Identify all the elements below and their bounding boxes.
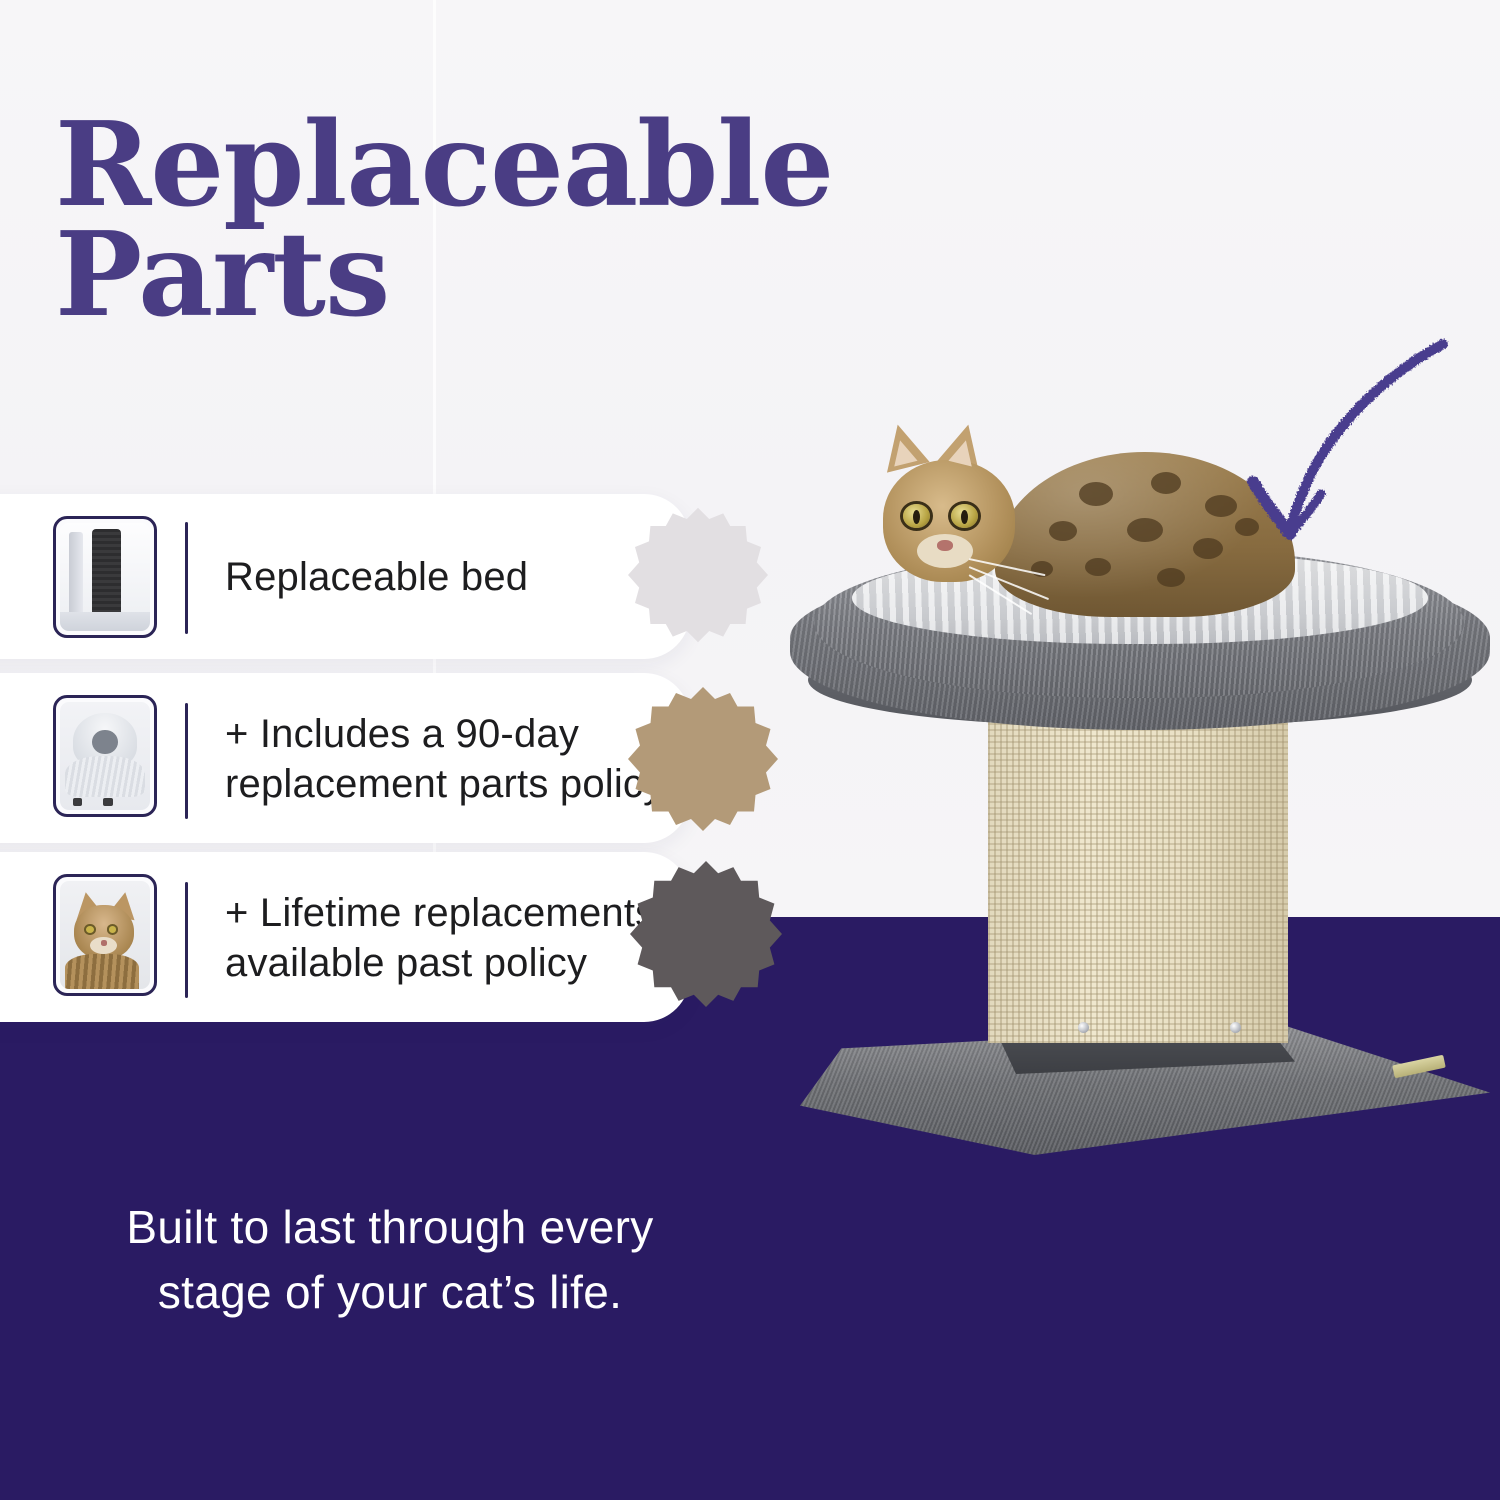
thumb-bed-foot <box>103 798 113 806</box>
scratching-post-thumbnail[interactable] <box>53 516 157 638</box>
feature-card-ninety-day-policy[interactable]: + Includes a 90-day replacement parts po… <box>0 673 690 843</box>
scalloped-blob-tan <box>628 684 778 834</box>
page-title: Replaceable Parts <box>55 110 835 330</box>
thumbnail-image <box>60 702 150 810</box>
thumb-bed-skirt <box>65 756 144 797</box>
plush-cat-bed-thumbnail[interactable] <box>53 695 157 817</box>
thumb-cat-body <box>65 954 139 989</box>
cat-pupil-left <box>913 510 920 524</box>
screw-icon <box>1078 1022 1089 1033</box>
bengal-cat-face-thumbnail[interactable] <box>53 874 157 996</box>
page-title-line-2: Parts <box>55 220 835 330</box>
curved-down-arrow-icon <box>1235 330 1485 565</box>
feature-card-replaceable-bed[interactable]: Replaceable bed <box>0 494 690 659</box>
scalloped-blob-dark-gray <box>630 858 782 1010</box>
feature-label: Replaceable bed <box>225 552 528 602</box>
bengal-cat <box>865 430 1285 630</box>
infographic-canvas: Replaceable Parts <box>0 0 1500 1500</box>
scalloped-blob-light-gray <box>628 505 768 645</box>
thumb-bed-foot <box>73 798 83 806</box>
thumb-side-panel <box>69 532 83 618</box>
cat-pupil-right <box>961 510 968 524</box>
feature-divider <box>185 882 188 998</box>
thumb-bed-opening <box>92 730 117 754</box>
feature-label: + Lifetime replacements available past p… <box>225 888 655 988</box>
screw-icon <box>1230 1022 1241 1033</box>
sisal-scratching-post <box>988 698 1288 1043</box>
thumbnail-image <box>60 881 150 989</box>
feature-card-lifetime-replacements[interactable]: + Lifetime replacements available past p… <box>0 852 690 1022</box>
thumbnail-image <box>60 523 150 631</box>
thumb-floor <box>60 612 150 631</box>
feature-label: + Includes a 90-day replacement parts po… <box>225 709 663 809</box>
feature-divider <box>185 703 188 819</box>
sisal-weave-texture <box>988 698 1288 1043</box>
cat-nose <box>937 540 953 551</box>
thumb-cat-nose <box>101 940 107 945</box>
feature-divider <box>185 522 188 634</box>
tagline: Built to last through every stage of you… <box>60 1195 720 1326</box>
thumb-dark-post <box>92 529 121 624</box>
thumb-cat-eye-left <box>84 924 96 935</box>
